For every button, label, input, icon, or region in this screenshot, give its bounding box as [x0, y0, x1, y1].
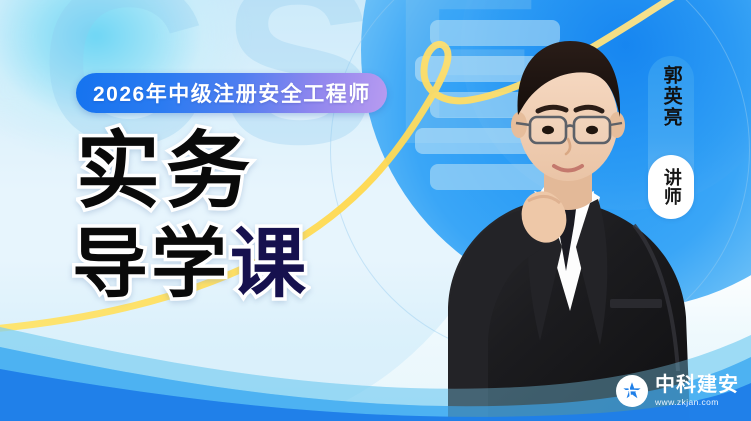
brand-logo[interactable]: 中科建安 www.zkjan.com [616, 375, 739, 407]
title-line-2: 导学课 [72, 228, 309, 302]
title-line-2-char-3: 课 [230, 222, 309, 307]
course-year-badge: 2026年中级注册安全工程师 [76, 73, 387, 113]
brand-logo-text: 中科建安 www.zkjan.com [655, 375, 739, 407]
instructor-role: 讲师 [661, 168, 681, 206]
course-year-badge-label: 2026年中级注册安全工程师 [93, 78, 371, 108]
course-poster: CSE [0, 0, 751, 421]
brand-url: www.zkjan.com [655, 398, 739, 407]
title-line-1: 实务 [76, 130, 309, 212]
instructor-role-badge: 讲师 [648, 155, 694, 219]
brand-name: 中科建安 [655, 375, 739, 395]
zkjan-star-icon [616, 375, 648, 407]
instructor-name: 郭英亮 [660, 65, 681, 128]
title-line-2-char-2: 学 [151, 222, 230, 307]
page-title: 实务 导学课 [72, 130, 309, 303]
title-line-2-char-1: 导 [72, 222, 151, 307]
